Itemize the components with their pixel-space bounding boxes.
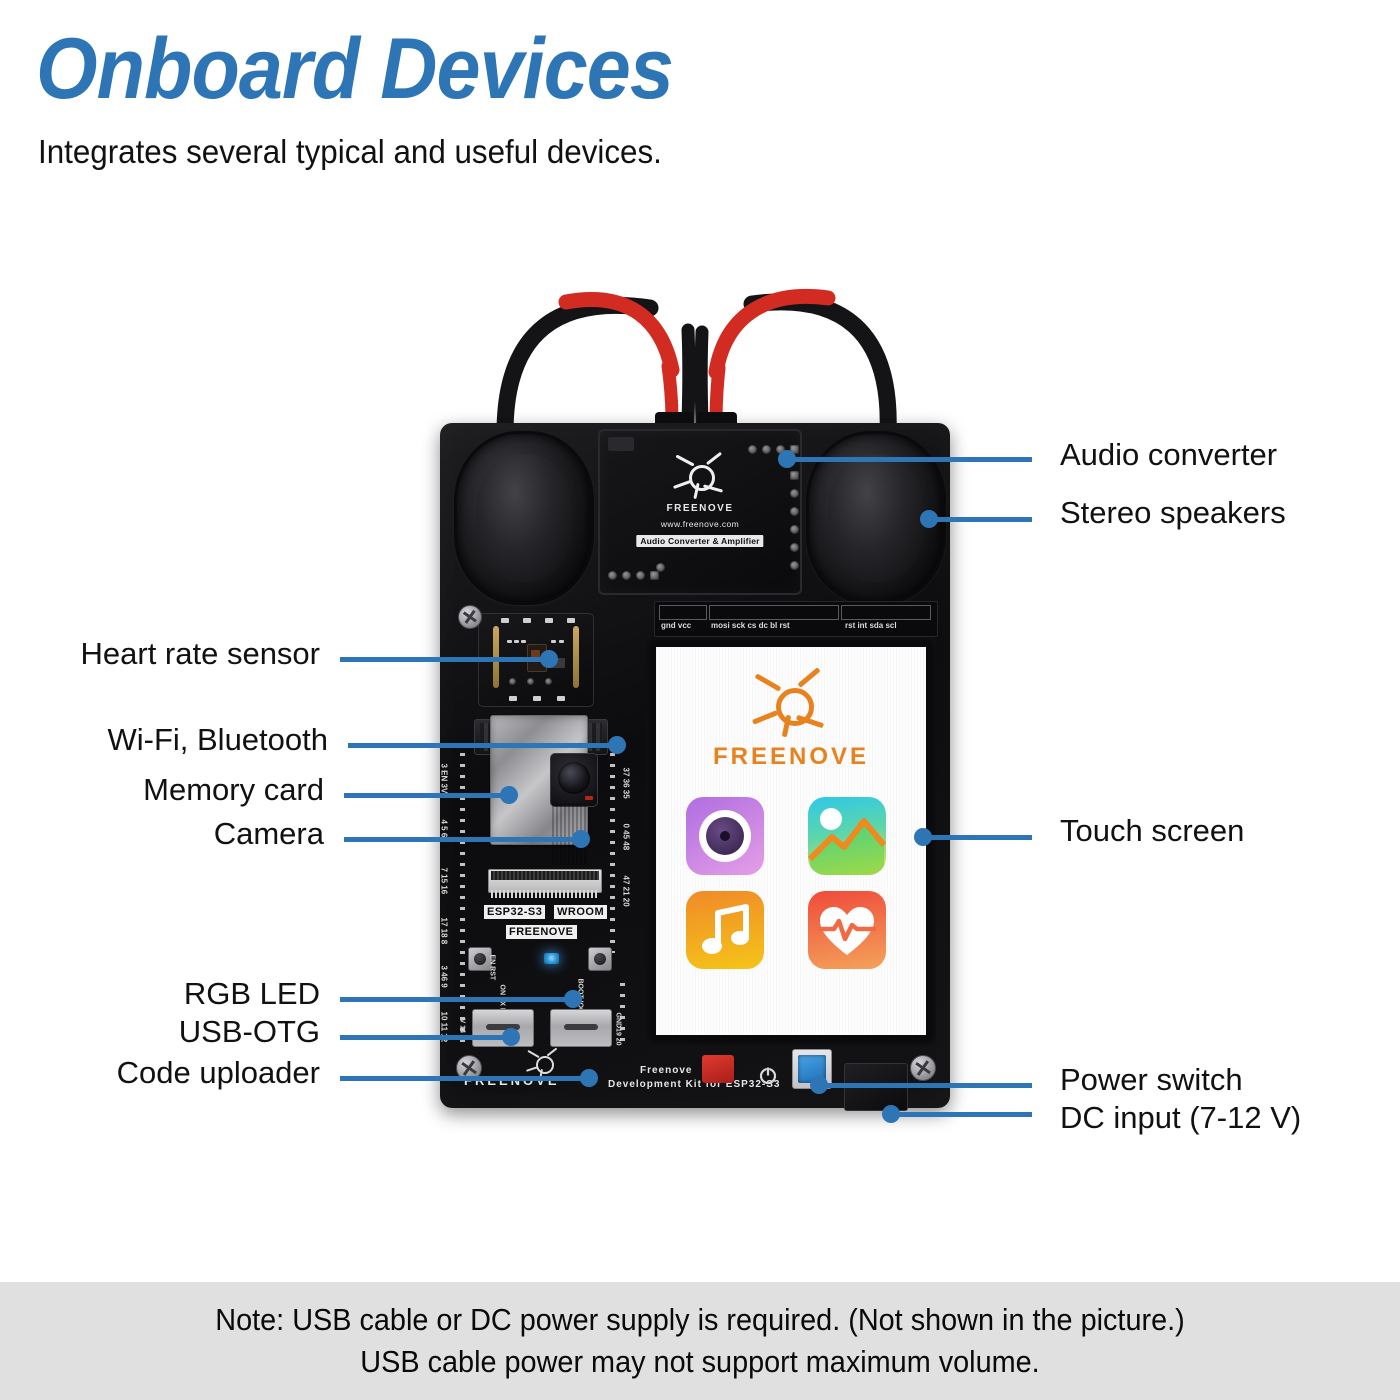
- leader-camera: [344, 837, 580, 842]
- esp-module-brand: FREENOVE: [506, 925, 577, 939]
- audio-converter-module: FREENOVE www.freenove.com Audio Converte…: [598, 429, 802, 595]
- rgb-led: [544, 953, 559, 964]
- display-fpc-connector: [488, 869, 602, 893]
- audio-module-tag: Audio Converter & Amplifier: [636, 535, 763, 547]
- touch-screen-bezel: FREENOVE: [646, 637, 936, 1045]
- usb-label-right: GND19 20: [615, 1013, 622, 1046]
- boot-button[interactable]: [588, 947, 612, 971]
- callout-memory-card: Memory card: [143, 773, 324, 806]
- code-uploader-port[interactable]: [550, 1009, 612, 1047]
- music-app-icon[interactable]: [686, 891, 764, 969]
- leader-usb-otg: [340, 1035, 510, 1040]
- bottom-line2: Development Kit for ESP32-S3: [608, 1079, 780, 1090]
- screw-mid-left: [458, 605, 482, 629]
- leader-wifi-bluetooth: [348, 743, 616, 748]
- gallery-app-icon[interactable]: [808, 797, 886, 875]
- page-subtitle: Integrates several typical and useful de…: [38, 133, 662, 171]
- audio-module-brand: FREENOVE: [600, 503, 800, 514]
- leader-dot-wifi-bluetooth: [608, 736, 626, 754]
- leader-touch-screen: [922, 835, 1032, 840]
- note-bar: Note: USB cable or DC power supply is re…: [0, 1282, 1400, 1400]
- callout-heart-rate-sensor: Heart rate sensor: [81, 637, 321, 670]
- leader-dot-touch-screen: [914, 828, 932, 846]
- screen-logo-text: FREENOVE: [656, 743, 926, 771]
- leader-dot-stereo-speakers: [920, 510, 938, 528]
- touch-screen[interactable]: FREENOVE: [656, 647, 926, 1035]
- callout-camera: Camera: [214, 817, 324, 850]
- leader-rgb-led: [340, 997, 572, 1002]
- leader-memory-card: [344, 793, 508, 798]
- leader-dot-audio-converter: [778, 450, 796, 468]
- leader-dot-power-switch: [810, 1076, 828, 1094]
- screen-freenove-sun-icon: [752, 671, 830, 737]
- pin-header-inner-left: [610, 753, 615, 953]
- audio-module-url: www.freenove.com: [600, 519, 800, 529]
- page-title: Onboard Devices: [36, 26, 673, 112]
- camera-app-icon[interactable]: [686, 797, 764, 875]
- esp-part-left: ESP32-S3: [484, 905, 545, 919]
- leader-audio-converter: [786, 457, 1032, 462]
- callout-dc-input: DC input (7-12 V): [1060, 1101, 1301, 1134]
- callout-usb-otg: USB-OTG: [179, 1015, 320, 1048]
- leader-dc-input: [890, 1112, 1032, 1117]
- leader-dot-heart-rate-sensor: [540, 650, 558, 668]
- callout-touch-screen: Touch screen: [1060, 814, 1244, 847]
- note-line-1: Note: USB cable or DC power supply is re…: [49, 1302, 1351, 1338]
- callout-power-switch: Power switch: [1060, 1063, 1243, 1096]
- callout-rgb-led: RGB LED: [184, 977, 320, 1010]
- red-component: [702, 1055, 734, 1083]
- bottom-line1: Freenove: [640, 1065, 692, 1076]
- camera-module: [550, 753, 598, 807]
- note-line-2: USB cable power may not support maximum …: [49, 1344, 1351, 1380]
- leader-dot-memory-card: [500, 786, 518, 804]
- leader-dot-usb-otg: [502, 1028, 520, 1046]
- callout-stereo-speakers: Stereo speakers: [1060, 496, 1286, 529]
- leader-dot-camera: [572, 830, 590, 848]
- usb-label-left: V 14: [459, 1019, 466, 1033]
- leader-dot-rgb-led: [564, 990, 582, 1008]
- screw-bottom-right: [910, 1055, 936, 1081]
- display-pin-header: gnd vcc mosi sck cs dc bl rst rst int sd…: [654, 601, 938, 637]
- leader-dot-dc-input: [882, 1105, 900, 1123]
- speaker-left: [454, 431, 594, 605]
- callout-audio-converter: Audio converter: [1060, 438, 1277, 471]
- health-app-icon[interactable]: [808, 891, 886, 969]
- leader-dot-code-uploader: [580, 1069, 598, 1087]
- development-board: FREENOVE www.freenove.com Audio Converte…: [440, 423, 950, 1108]
- power-symbol-icon: [758, 1065, 778, 1085]
- leader-code-uploader: [340, 1076, 588, 1081]
- leader-heart-rate-sensor: [340, 657, 548, 662]
- callout-code-uploader: Code uploader: [117, 1056, 320, 1089]
- leader-power-switch: [818, 1083, 1032, 1088]
- callout-wifi-bluetooth: Wi-Fi, Bluetooth: [107, 723, 328, 756]
- leader-stereo-speakers: [928, 517, 1032, 522]
- freenove-sun-icon: [673, 453, 727, 499]
- esp-part-right: WROOM: [554, 905, 607, 919]
